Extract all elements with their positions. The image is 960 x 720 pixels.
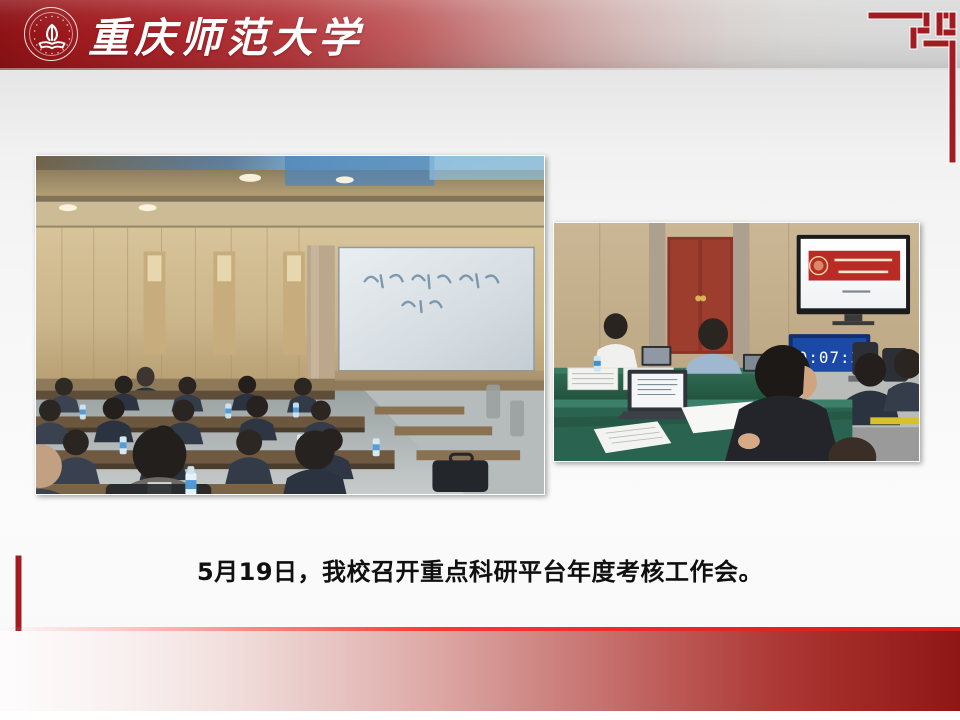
photo-meeting-room: 00:07:34 xyxy=(553,222,920,462)
header-underline xyxy=(0,68,960,70)
seal-artwork xyxy=(25,8,79,62)
footer-gradient-band xyxy=(0,631,960,711)
page-title: 重庆师范大学 xyxy=(88,6,364,62)
presentation-slide: 重庆师范大学 xyxy=(0,0,960,720)
photo-conference-hall xyxy=(35,155,545,495)
university-seal-icon xyxy=(24,7,78,61)
footer-base xyxy=(0,711,960,720)
slide-caption: 5月19日，我校召开重点科研平台年度考核工作会。 xyxy=(0,552,960,587)
chinese-corner-ornament-top-right xyxy=(840,0,960,185)
photo-meeting-room-artwork: 00:07:34 xyxy=(554,223,919,461)
photo-conference-hall-artwork xyxy=(36,156,544,494)
